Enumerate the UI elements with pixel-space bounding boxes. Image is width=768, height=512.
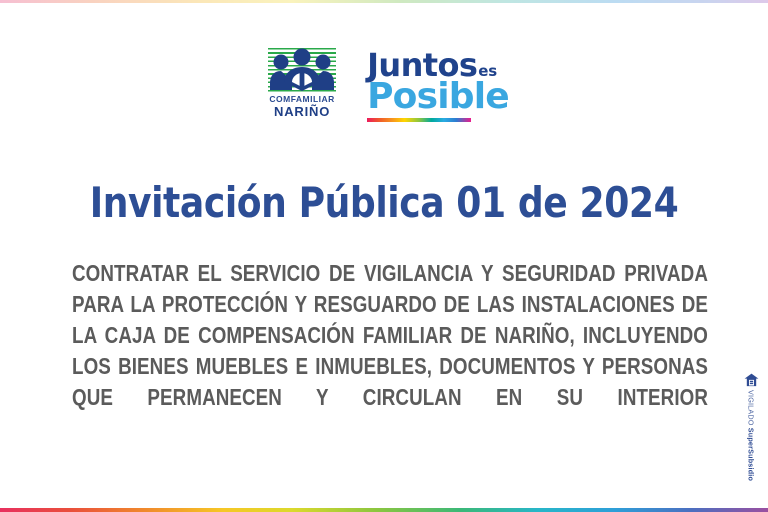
family-figures-icon [268,48,336,92]
juntos-es-posible-logo: Juntos es Posible [367,48,509,122]
comfamiliar-name-line2: NARIÑO [274,105,330,119]
vigilado-label: VIGILADO SuperSubsidio [747,390,754,481]
supersubsidio-brand: SuperSubsidio [747,428,756,481]
juntos-rainbow-underline [367,118,471,122]
comfamiliar-family-icon [268,48,336,92]
comfamiliar-logo: COMFAMILIAR NARIÑO [259,48,345,119]
posible-word: Posible [367,79,509,114]
poster-canvas: COMFAMILIAR NARIÑO Juntos es Posible Inv… [0,0,768,512]
supersubsidio-shield-icon [744,373,759,388]
logo-header: COMFAMILIAR NARIÑO Juntos es Posible [0,48,768,122]
rainbow-rule-bottom [0,508,768,512]
vigilado-supersubsidio-badge: VIGILADO SuperSubsidio [740,373,762,469]
vigilado-prefix: VIGILADO [747,390,756,428]
rainbow-rule-top [0,0,768,3]
page-title: Invitación Pública 01 de 2024 [54,178,714,227]
invitation-description: Contratar el servicio de vigilancia y se… [72,258,708,444]
